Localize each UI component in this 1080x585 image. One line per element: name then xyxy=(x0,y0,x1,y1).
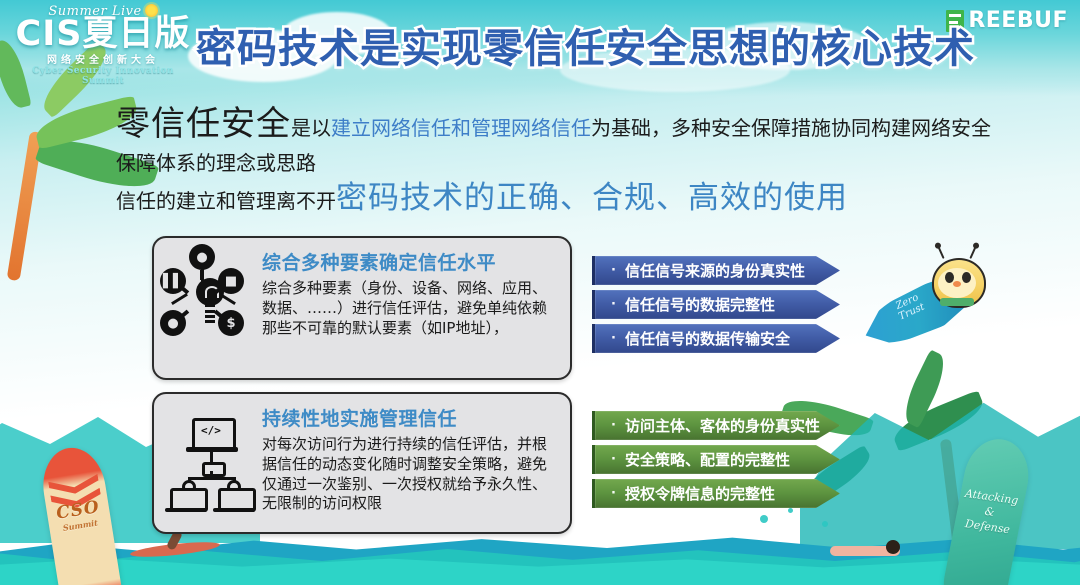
topology-link xyxy=(188,477,236,480)
bee-eye xyxy=(962,272,971,283)
sea-foam xyxy=(788,508,793,513)
card-text: 综合多种要素（身份、设备、网络、应用、数据、……）进行信任评估，避免单纯依赖那些… xyxy=(262,279,558,338)
bee-antenna xyxy=(969,246,976,259)
surfboard-chevron xyxy=(50,488,102,512)
surfer-board xyxy=(130,539,221,559)
bee-antenna xyxy=(937,246,944,259)
code-glyph: </> xyxy=(201,424,221,437)
bee-body xyxy=(932,258,986,308)
client-laptop-base xyxy=(213,508,255,512)
wave-shape xyxy=(800,379,1080,549)
surfboard-chevron xyxy=(48,474,100,498)
definition-part1: 是以 xyxy=(291,116,331,140)
info-card-continuous-trust: </> 持续性地实施管理信任 对每次访问行为进行持续的信任评估，并根据信任的动态… xyxy=(152,392,572,534)
palm-trunk-icon xyxy=(7,131,43,281)
bee-nose xyxy=(953,281,961,287)
bullet-icon: · xyxy=(611,418,616,433)
wave-shape xyxy=(0,525,1080,585)
presentation-slide: CSO Summit Attacking & Defense Zero Trus… xyxy=(0,0,1080,585)
trust-factors-hub-icon: ● ▌▌ ■ ● $ xyxy=(154,238,262,378)
sea-foam xyxy=(822,521,828,527)
bullet-icon: · xyxy=(611,452,616,467)
card-body: 综合多种要素确定信任水平 综合多种要素（身份、设备、网络、应用、数据、……）进行… xyxy=(262,238,570,338)
surfboard-blue-decoration xyxy=(856,262,993,357)
node-chart-icon: ▌▌ xyxy=(160,268,186,294)
cis-main-title: CIS夏日版 xyxy=(14,18,192,51)
bee-eye xyxy=(945,272,954,283)
slide-title: 密码技术是实现零信任安全思想的核心技术 xyxy=(196,16,975,74)
node-chat-icon: ■ xyxy=(218,268,244,294)
surfboard-green-line3: Defense xyxy=(964,517,1011,536)
bullet-icon: · xyxy=(611,263,616,278)
tag-label: 安全策略、配置的完整性 xyxy=(625,449,790,470)
surfboard-green-line2: & xyxy=(984,505,996,519)
card-title: 综合多种要素确定信任水平 xyxy=(262,248,558,275)
person-glyph: ● xyxy=(189,244,215,270)
freebuf-wordmark: REEBUF xyxy=(968,8,1068,33)
surfboard-green-line1: Attacking xyxy=(964,487,1019,507)
topology-link xyxy=(210,452,213,462)
card-body: 持续性地实施管理信任 对每次访问行为进行持续的信任评估，并根据信任的动态变化随时… xyxy=(262,394,570,514)
swimmer-body xyxy=(830,546,900,556)
surfboard-red-decoration: CSO Summit xyxy=(38,443,129,585)
tag-blue-0: · 信任信号来源的身份真实性 xyxy=(592,256,840,285)
tag-label: 信任信号来源的身份真实性 xyxy=(625,260,805,281)
cis-summer-live-text: Summer Live xyxy=(48,4,141,19)
bee-stripe xyxy=(940,298,974,306)
tag-label: 访问主体、客体的身份真实性 xyxy=(625,415,820,436)
node-dollar-icon: $ xyxy=(218,310,244,336)
palm-frond-icon xyxy=(889,390,988,452)
hub-link xyxy=(171,293,188,305)
client-laptop-base xyxy=(165,508,207,512)
surfboard-red-text: CSO Summit xyxy=(46,497,112,535)
bee-mascot-icon xyxy=(926,248,988,310)
node-location-icon: ● xyxy=(160,310,186,336)
card-title: 持续性地实施管理信任 xyxy=(262,404,558,431)
tag-blue-1: · 信任信号的数据完整性 xyxy=(592,290,840,319)
node-tail xyxy=(200,270,204,280)
node-person-icon: ● xyxy=(189,244,215,270)
tag-label: 信任信号的数据完整性 xyxy=(625,294,775,315)
definition-paragraph: 零信任安全是以建立网络信任和管理网络信任为基础，多种安全保障措施协同构建网络安全… xyxy=(116,100,1006,178)
emphasis-small-text: 信任的建立和管理离不开 xyxy=(116,189,336,213)
swimmer-head xyxy=(886,540,900,554)
tag-blue-2: · 信任信号的数据传输安全 xyxy=(592,324,840,353)
tag-green-0: · 访问主体、客体的身份真实性 xyxy=(592,411,840,440)
surfboard-blue-line2: Trust xyxy=(897,301,926,322)
surfboard-red-line1: CSO xyxy=(46,497,110,526)
surfboard-red-line2: Summit xyxy=(49,516,112,535)
definition-lead-term: 零信任安全 xyxy=(116,104,291,144)
tag-label: 授权令牌信息的完整性 xyxy=(625,483,775,504)
info-card-trust-factors: ● ▌▌ ■ ● $ 综合多种要素确定信任水平 综合多种要素（身份、设备、网 xyxy=(152,236,572,380)
surfboard-green-text: Attacking & Defense xyxy=(955,486,1025,539)
bullet-icon: · xyxy=(611,297,616,312)
palm-trunk-icon xyxy=(940,439,965,557)
bullet-icon: · xyxy=(611,331,616,346)
cis-event-logo: Summer Live CIS夏日版 网络安全创新大会 Cyber Securi… xyxy=(14,4,192,70)
tag-green-2: · 授权令牌信息的完整性 xyxy=(592,479,840,508)
card-text: 对每次访问行为进行持续的信任评估，并根据信任的动态变化随时调整安全策略，避免仅通… xyxy=(262,435,558,514)
emphasis-big-text: 密码技术的正确、合规、高效的使用 xyxy=(336,180,848,216)
chat-glyph: ■ xyxy=(218,268,244,294)
topology-group: </> xyxy=(178,418,242,510)
surfboard-blue-text: Zero Trust xyxy=(893,291,927,322)
definition-highlight: 建立网络信任和管理网络信任 xyxy=(331,116,591,140)
emphasis-paragraph: 信任的建立和管理离不开密码技术的正确、合规、高效的使用 xyxy=(116,172,1016,217)
tag-green-1: · 安全策略、配置的完整性 xyxy=(592,445,840,474)
palm-frond-icon xyxy=(897,349,952,428)
sun-icon xyxy=(145,4,158,17)
tag-label: 信任信号的数据传输安全 xyxy=(625,328,790,349)
surfboard-blue-line1: Zero xyxy=(894,292,920,312)
surfboard-green-decoration: Attacking & Defense xyxy=(937,434,1035,585)
bullet-icon: · xyxy=(611,486,616,501)
swimmer-figure xyxy=(830,536,900,562)
topology-hub xyxy=(202,462,226,477)
wave-shape xyxy=(0,545,1080,585)
cis-summer-live-label: Summer Live xyxy=(14,4,192,19)
bee-face xyxy=(938,268,976,298)
network-topology-icon: </> xyxy=(154,394,262,532)
cis-english-subtitle: Cyber Security Innovation Summit xyxy=(14,66,192,86)
sea-foam xyxy=(760,515,768,523)
